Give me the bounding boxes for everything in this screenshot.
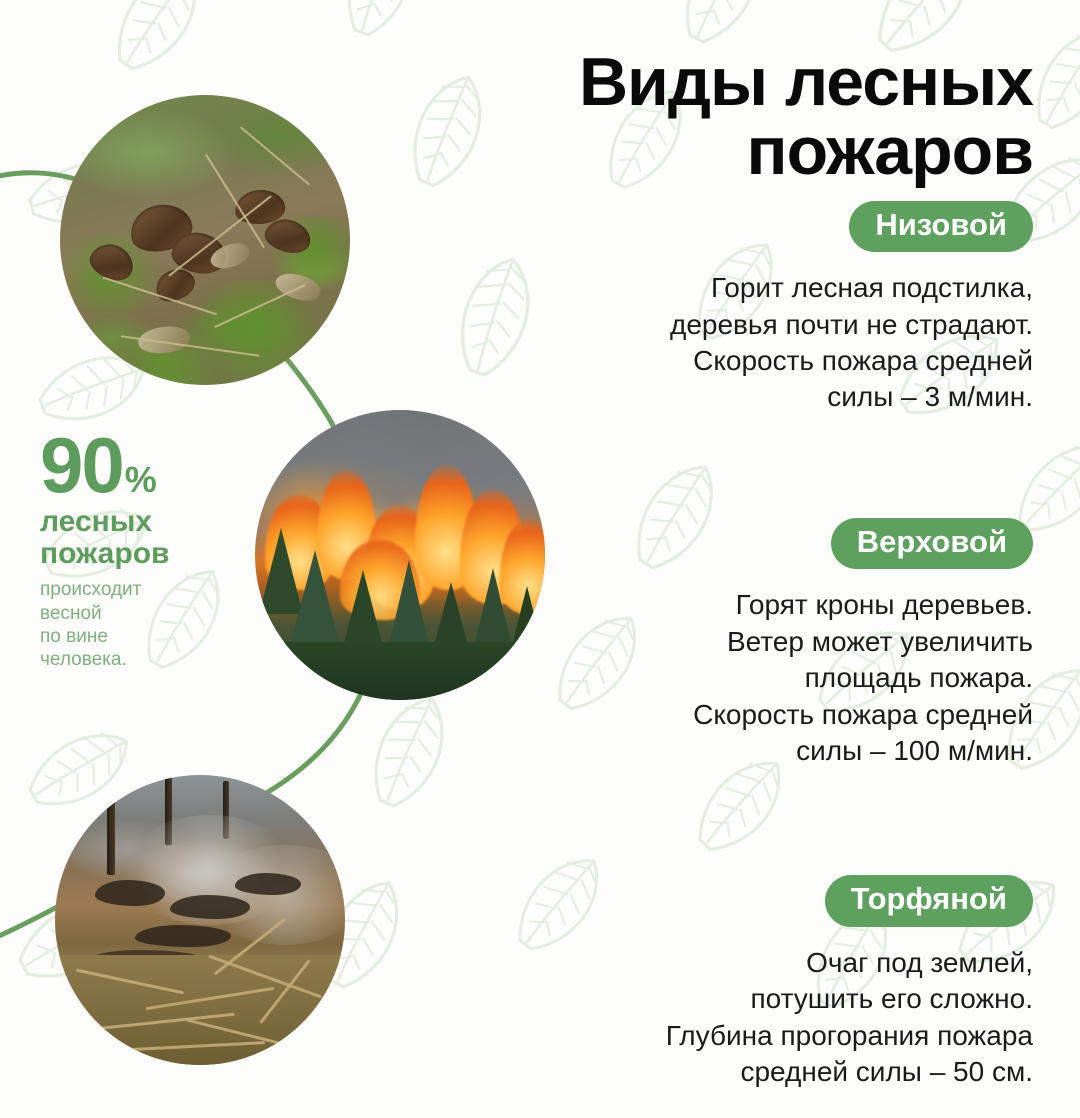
section-body-crown-fire: Горят кроны деревьев. Ветер может увелич… bbox=[545, 587, 1045, 769]
badge-low-fire[interactable]: Низовой bbox=[849, 201, 1033, 253]
badge-row-peat: Торфяной bbox=[545, 875, 1045, 927]
page-title: Виды лесных пожаров bbox=[545, 48, 1033, 187]
statistic-block: 90 % лесных пожаров происходит весной по… bbox=[40, 430, 270, 671]
peat-fire-photo bbox=[55, 775, 345, 1065]
badge-peat-fire[interactable]: Торфяной bbox=[825, 875, 1033, 927]
badge-row-low: Низовой bbox=[545, 201, 1045, 253]
statistic-value-row: 90 % bbox=[40, 430, 270, 502]
infographic-canvas: 90 % лесных пожаров происходит весной по… bbox=[0, 0, 1080, 1080]
section-peat-fire: Торфяной Очаг под землей, потушить его с… bbox=[545, 875, 1045, 1118]
section-body-low-fire: Горит лесная подстилка, деревья почти не… bbox=[545, 270, 1045, 416]
statistic-subtext: происходит весной по вине человека. bbox=[40, 578, 270, 671]
section-crown-fire: Верховой Горят кроны деревьев. Ветер мож… bbox=[545, 518, 1045, 798]
statistic-headline: лесных пожаров bbox=[40, 506, 270, 570]
badge-row-crown: Верховой bbox=[545, 518, 1045, 570]
content-column: Виды лесных пожаров Низовой Горит лесная… bbox=[545, 0, 1045, 1080]
badge-crown-fire[interactable]: Верховой bbox=[831, 518, 1033, 570]
forest-litter-photo bbox=[60, 95, 350, 385]
crown-fire-photo bbox=[255, 410, 545, 700]
statistic-number: 90 bbox=[40, 430, 123, 502]
statistic-percent-sign: % bbox=[125, 459, 157, 501]
section-body-peat-fire: Очаг под землей, потушить его сложно. Гл… bbox=[545, 945, 1045, 1091]
section-low-fire: Низовой Горит лесная подстилка, деревья … bbox=[545, 201, 1045, 444]
